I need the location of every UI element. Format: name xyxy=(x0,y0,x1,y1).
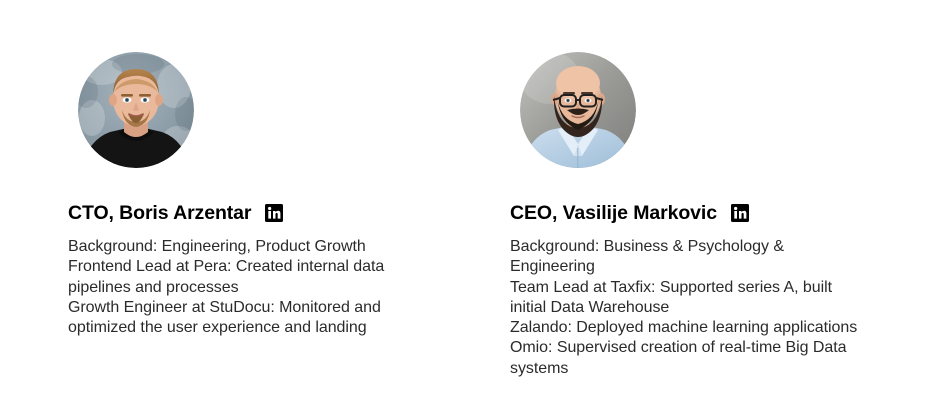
linkedin-icon[interactable] xyxy=(731,204,749,222)
bio-line: Growth Engineer at StuDocu: Monitored an… xyxy=(68,298,408,339)
bio-line: Zalando: Deployed machine learning appli… xyxy=(510,318,858,338)
person-name: CEO, Vasilije Markovic xyxy=(510,202,717,224)
profile-name-row-vasilije-markovic: CEO, Vasilije Markovic xyxy=(510,202,910,224)
linkedin-icon[interactable] xyxy=(265,204,283,222)
person-name: CTO, Boris Arzentar xyxy=(68,202,251,224)
avatar-vasilije-markovic xyxy=(520,52,636,168)
bio-line: Background: Engineering, Product Growth xyxy=(68,237,408,257)
profile-bio-vasilije-markovic: Background: Business & Psychology & Engi… xyxy=(510,237,858,379)
profile-name-row-boris-arzentar: CTO, Boris Arzentar xyxy=(68,202,468,224)
profile-bio-boris-arzentar: Background: Engineering, Product Growth … xyxy=(68,237,408,338)
profile-card-vasilije-markovic: CEO, Vasilije Markovic Background: Busin… xyxy=(510,0,910,379)
bio-line: Team Lead at Taxfix: Supported series A,… xyxy=(510,278,858,319)
bio-line: Frontend Lead at Pera: Created internal … xyxy=(68,257,408,298)
profile-card-boris-arzentar: CTO, Boris Arzentar Background: Engineer… xyxy=(68,0,468,338)
avatar-boris-arzentar xyxy=(78,52,194,168)
bio-line: Background: Business & Psychology & Engi… xyxy=(510,237,858,278)
team-profiles-section: CTO, Boris Arzentar Background: Engineer… xyxy=(0,0,948,412)
bio-line: Omio: Supervised creation of real-time B… xyxy=(510,338,858,379)
